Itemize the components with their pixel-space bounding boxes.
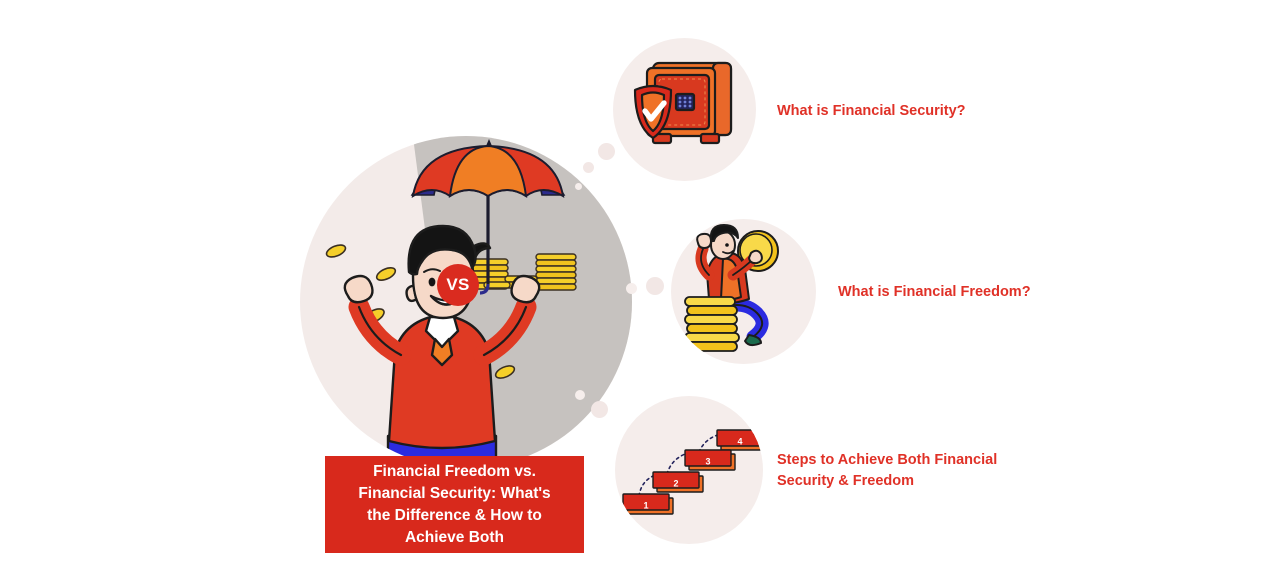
- step-number: 2: [673, 478, 678, 488]
- node-label-financial-freedom: What is Financial Freedom?: [838, 282, 1118, 303]
- step-1: 1: [623, 494, 673, 514]
- step-3: 3: [685, 450, 735, 470]
- page-title-line-1: Financial Freedom vs.: [373, 463, 536, 480]
- node-label-line: What is Financial Security?: [777, 103, 966, 119]
- connector-dot: [598, 143, 615, 160]
- connector-dot: [646, 277, 664, 295]
- node-circle-financial-security: [613, 38, 756, 181]
- page-title-line-4: Achieve Both: [405, 529, 504, 546]
- step-number: 3: [705, 456, 710, 466]
- connector-dot: [626, 283, 637, 294]
- page-title: Financial Freedom vs. Financial Security…: [325, 456, 584, 553]
- safe-with-shield-icon: [613, 38, 756, 181]
- node-label-line: Steps to Achieve Both Financial: [777, 452, 997, 468]
- step-number: 1: [643, 500, 648, 510]
- node-label-line: Security & Freedom: [777, 473, 914, 489]
- page-title-line-3: the Difference & How to: [367, 507, 542, 524]
- connector-dot: [591, 401, 608, 418]
- connector-dot: [575, 390, 585, 400]
- step-2: 2: [653, 472, 703, 492]
- man-on-coin-stack-icon: [671, 219, 816, 364]
- node-label-line: What is Financial Freedom?: [838, 284, 1031, 300]
- node-label-financial-security: What is Financial Security?: [777, 101, 1037, 122]
- vs-badge: VS: [437, 264, 479, 306]
- node-label-steps-to-achieve-both: Steps to Achieve Both Financial Security…: [777, 450, 1027, 492]
- page-title-line-2: Financial Security: What's: [358, 485, 550, 502]
- connector-dot: [583, 162, 594, 173]
- node-circle-financial-freedom: [671, 219, 816, 364]
- step-number: 4: [737, 436, 742, 446]
- numbered-staircase-icon: 4 3 2 1: [615, 396, 763, 544]
- node-circle-steps-to-achieve-both: 4 3 2 1: [615, 396, 763, 544]
- infographic-canvas: VS Financial Freedom vs. Financial Secur…: [0, 0, 1263, 579]
- connector-dot: [575, 183, 582, 190]
- step-4: 4: [717, 430, 763, 450]
